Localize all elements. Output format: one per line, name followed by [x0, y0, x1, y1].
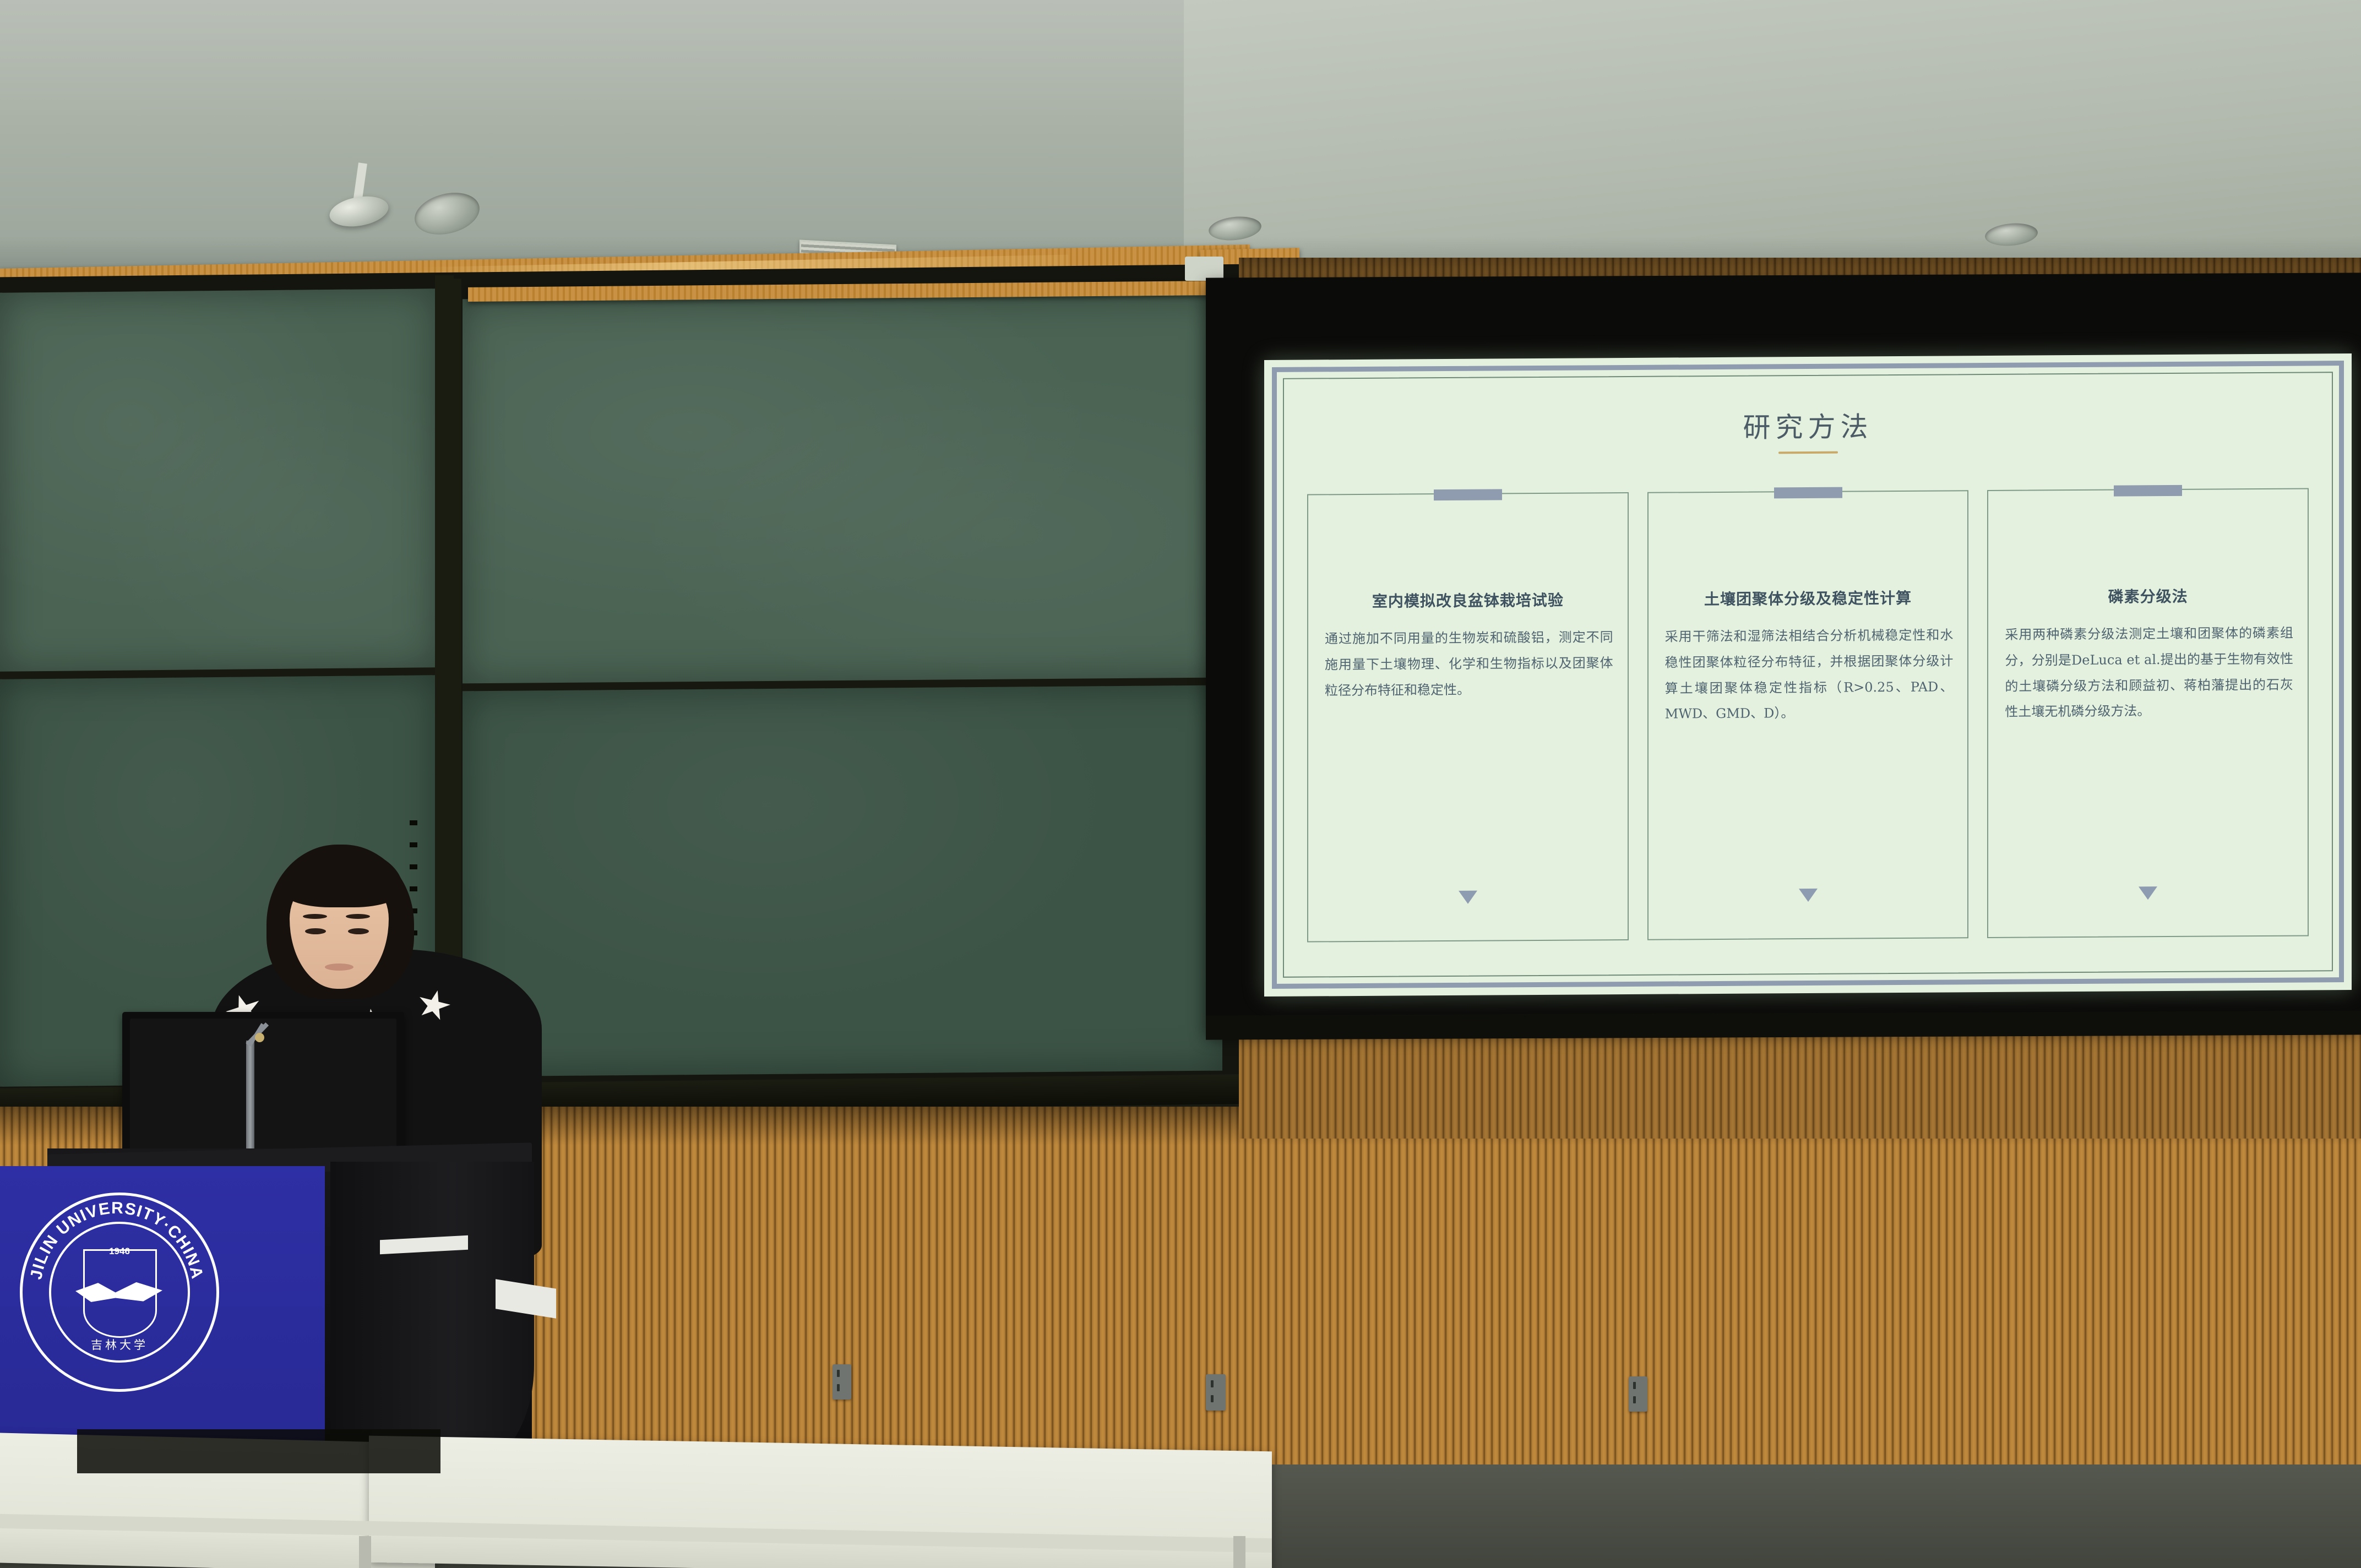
chalkboard-panel-left-upper [0, 288, 435, 673]
wall-outlet-1[interactable] [833, 1364, 851, 1400]
method-card-1[interactable]: 室内模拟改良盆钵栽培试验 通过施加不同用量的生物炭和硫酸铝，测定不同施用量下土壤… [1307, 492, 1629, 943]
method-card-2[interactable]: 土壤团聚体分级及稳定性计算 采用干筛法和湿筛法相结合分析机械稳定性和水稳性团聚体… [1647, 490, 1969, 940]
presenter-mouth [325, 963, 353, 971]
slide-title-rule [1778, 451, 1838, 454]
card-tab-icon [1434, 489, 1502, 500]
chevron-down-icon [1799, 889, 1818, 902]
presenter-brow-right [346, 914, 370, 919]
card-tab-icon [2114, 485, 2182, 497]
desk-leg [1233, 1536, 1245, 1568]
method-card-1-body: 通过施加不同用量的生物炭和硫酸铝，测定不同施用量下土壤物理、化学和生物指标以及团… [1325, 624, 1613, 704]
wall-outlet-3[interactable] [1629, 1376, 1647, 1412]
projector-screen-bottom-bar [1206, 1010, 2361, 1039]
university-seal: 1946 吉林大学 JILIN UNIVERSITY·CHINA [20, 1193, 219, 1392]
slide-title: 研究方法 [1264, 402, 2352, 448]
chevron-down-icon [1459, 891, 1477, 904]
lecture-hall-photo: 研究方法 室内模拟改良盆钵栽培试验 通过施加不同用量的生物炭和硫酸铝，测定不同施… [0, 0, 2361, 1568]
method-card-3-body: 采用两种磷素分级法测定土壤和团聚体的磷素组分，分别是DeLuca et al.提… [2005, 620, 2293, 725]
method-card-2-body: 采用干筛法和湿筛法相结合分析机械稳定性和水稳性团聚体粒径分布特征，并根据团聚体分… [1665, 622, 1954, 727]
svg-text:JILIN UNIVERSITY·CHINA: JILIN UNIVERSITY·CHINA [27, 1199, 206, 1281]
ceiling-right-section [1184, 0, 2361, 259]
presentation-slide[interactable]: 研究方法 室内模拟改良盆钵栽培试验 通过施加不同用量的生物炭和硫酸铝，测定不同施… [1264, 353, 2352, 997]
card-tab-icon [1774, 487, 1842, 499]
desk-leg [359, 1536, 371, 1568]
presenter-brow-left [303, 914, 327, 919]
wall-outlet-2[interactable] [1206, 1374, 1226, 1411]
projector-screen-housing [1185, 257, 1223, 281]
lectern-banner: 1946 吉林大学 JILIN UNIVERSITY·CHINA [0, 1166, 325, 1452]
podium-base-shadow [77, 1429, 440, 1473]
chalkboard-panel-right-upper [463, 293, 1222, 685]
presenter-eye-right [348, 928, 369, 934]
presenter-eye-left [305, 928, 326, 934]
lectern-right-face [330, 1162, 534, 1470]
method-card-1-title: 室内模拟改良盆钵栽培试验 [1314, 588, 1622, 612]
university-seal-arc-text-icon: JILIN UNIVERSITY·CHINA [20, 1193, 214, 1386]
method-card-2-title: 土壤团聚体分级及稳定性计算 [1654, 586, 1962, 609]
method-card-3-title: 磷素分级法 [1994, 584, 2302, 608]
microphone-head-icon [255, 1033, 264, 1042]
method-cards-row: 室内模拟改良盆钵栽培试验 通过施加不同用量的生物炭和硫酸铝，测定不同施用量下土壤… [1307, 488, 2309, 942]
method-card-3[interactable]: 磷素分级法 采用两种磷素分级法测定土壤和团聚体的磷素组分，分别是DeLuca e… [1987, 488, 2309, 938]
board-post-notch [410, 820, 417, 825]
chevron-down-icon [2139, 886, 2157, 900]
